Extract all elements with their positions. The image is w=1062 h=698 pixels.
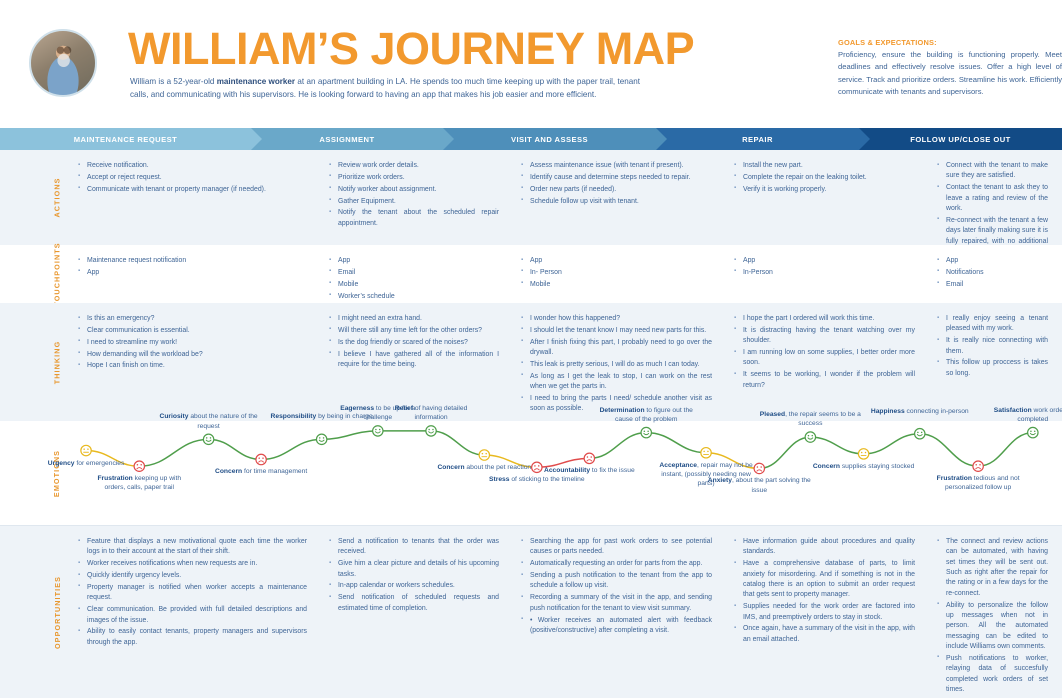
goals-title: GOALS & EXPECTATIONS: xyxy=(838,38,1062,47)
emotion-curve-chart: Urgency for emergenciesFrustration keepi… xyxy=(70,421,1062,526)
row-label-opportunities: OPPORTUNITIES xyxy=(44,526,70,698)
list-item: Accept or reject request. xyxy=(78,173,307,183)
list-item: Clear communication. Be provided with fu… xyxy=(78,605,307,626)
list-item: Automatically requesting an order for pa… xyxy=(521,559,712,569)
list-item: Once again, have a summary of the visit … xyxy=(734,624,915,645)
bullet-list: Maintenance request notificationApp xyxy=(78,256,307,278)
emotion-curve-segment xyxy=(431,431,484,455)
list-item: App xyxy=(937,256,1048,266)
list-item: Communicate with tenant or property mana… xyxy=(78,185,307,195)
list-item: Hope I can finish on time. xyxy=(78,361,307,371)
list-item: Is the dog friendly or scared of the noi… xyxy=(329,338,499,348)
list-item: Connect with the tenant to make sure the… xyxy=(937,161,1048,182)
row-actions: ACTIONSReceive notification.Accept or re… xyxy=(0,150,1062,245)
row-thinking: THINKINGIs this an emergency?Clear commu… xyxy=(0,303,1062,421)
list-item: Receive notification. xyxy=(78,161,307,171)
bullet-list: I might need an extra hand.Will there st… xyxy=(329,314,499,370)
list-item: Recording a summary of the visit in the … xyxy=(521,593,712,614)
emotion-label-16: Happiness connecting in-person xyxy=(868,407,972,416)
list-item: I hope the part I ordered will work this… xyxy=(734,314,915,324)
list-item: As long as I get the leak to stop, I can… xyxy=(521,372,712,393)
bullet-list: Searching the app for past work orders t… xyxy=(521,537,712,636)
cell-touchpoints-3: AppIn- PersonMobile xyxy=(513,245,726,303)
emotion-curve-segment xyxy=(261,439,322,459)
list-item: Send a notification to tenants that the … xyxy=(329,537,499,558)
cell-opportunities-2: Send a notification to tenants that the … xyxy=(321,526,513,698)
bullet-list: AppIn-Person xyxy=(734,256,915,278)
emotion-detail: about the pet reaction xyxy=(465,464,532,471)
emotion-detail: supplies staying stocked xyxy=(840,463,914,470)
list-item: I wonder how this happened? xyxy=(521,314,712,324)
emotion-node-happy-face-icon[interactable] xyxy=(373,426,383,436)
row-label-actions: ACTIONS xyxy=(44,150,70,245)
row-touchpoints: TOUCHPOINTSMaintenance request notificat… xyxy=(0,245,1062,303)
page-title: WILLIAM’S JOURNEY MAP xyxy=(128,26,694,71)
emotion-name: Happiness xyxy=(871,408,905,415)
list-item: Identify cause and determine steps neede… xyxy=(521,173,712,183)
row-label-touchpoints: TOUCHPOINTS xyxy=(44,245,70,303)
list-item: Have a comprehensive database of parts, … xyxy=(734,559,915,600)
list-item: It is really nice connecting with them. xyxy=(937,336,1048,357)
emotion-name: Concern xyxy=(813,463,840,470)
emotion-curve-segment xyxy=(589,433,646,459)
emotion-node-happy-face-icon[interactable] xyxy=(805,432,815,442)
emotion-name: Urgency xyxy=(48,460,75,467)
bullet-list: Review work order details.Prioritize wor… xyxy=(329,161,499,229)
list-item: App xyxy=(734,256,915,266)
section-divider xyxy=(0,525,1062,526)
bullet-list: Feature that displays a new motivational… xyxy=(78,537,307,648)
phase-label: REPAIR xyxy=(742,135,773,144)
phase-label: MAINTENANCE REQUEST xyxy=(74,135,177,144)
emotion-label-8: Concern about the pet reaction xyxy=(432,463,536,472)
row-emotions: EMOTIONSUrgency for emergenciesFrustrati… xyxy=(0,421,1062,526)
emotion-curve-segment xyxy=(920,434,978,466)
phase-header-5[interactable]: FOLLOW UP/CLOSE OUT xyxy=(859,128,1062,150)
bullet-list: Receive notification.Accept or reject re… xyxy=(78,161,307,195)
cell-touchpoints-2: AppEmailMobileWorker’s schedule xyxy=(321,245,513,303)
emotion-name: Accountability xyxy=(544,467,590,474)
emotion-node-neutral-face-icon[interactable] xyxy=(701,448,711,458)
list-item: Supplies needed for the work order are f… xyxy=(734,602,915,623)
phase-header-2[interactable]: ASSIGNMENT xyxy=(251,128,443,150)
list-item: Give him a clear picture and details of … xyxy=(329,559,499,580)
list-item: In- Person xyxy=(521,268,712,278)
bullet-list: The connect and review actions can be au… xyxy=(937,537,1048,695)
row-label-text: EMOTIONS xyxy=(53,450,62,497)
list-item: Notify the tenant about the scheduled re… xyxy=(329,208,499,229)
emotion-node-sad-face-icon[interactable] xyxy=(584,453,594,463)
emotion-node-neutral-face-icon[interactable] xyxy=(858,449,868,459)
cell-opportunities-4: Have information guide about procedures … xyxy=(726,526,929,698)
emotion-node-neutral-face-icon[interactable] xyxy=(479,450,489,460)
persona-role: maintenance worker xyxy=(217,77,295,86)
emotion-label-17: Frustration tedious and not personalized… xyxy=(926,474,1030,493)
list-item: App xyxy=(521,256,712,266)
list-item: Quickly identify urgency levels. xyxy=(78,571,307,581)
emotion-label-7: Relief of having detailed information xyxy=(379,404,483,423)
phase-header-3[interactable]: VISIT AND ASSESS xyxy=(443,128,656,150)
persona-text-pre: William is a 52-year-old xyxy=(130,77,217,86)
emotion-label-9: Stress of sticking to the timeline xyxy=(485,475,589,484)
bullet-list: I hope the part I ordered will work this… xyxy=(734,314,915,391)
emotion-node-happy-face-icon[interactable] xyxy=(1028,427,1038,437)
emotion-detail: , about the part solving the issue xyxy=(732,477,811,493)
emotion-name: Eagerness xyxy=(340,405,374,412)
goals-body: Proficiency, ensure the building is func… xyxy=(838,49,1062,98)
cell-opportunities-3: Searching the app for past work orders t… xyxy=(513,526,726,698)
emotion-node-happy-face-icon[interactable] xyxy=(915,429,925,439)
row-label-text: ACTIONS xyxy=(53,177,62,217)
list-item: It seems to be working, I wonder if the … xyxy=(734,370,915,391)
list-item: Mobile xyxy=(329,280,499,290)
emotion-detail: of having detailed information xyxy=(413,405,467,421)
list-item: Ability to easily contact tenants, prope… xyxy=(78,627,307,648)
emotion-node-happy-face-icon[interactable] xyxy=(641,427,651,437)
emotion-curve-segment xyxy=(209,439,262,459)
list-item: Notify worker about assignment. xyxy=(329,185,499,195)
phase-label: VISIT AND ASSESS xyxy=(511,135,588,144)
list-item: • Worker receives an automated alert wit… xyxy=(521,616,712,637)
list-item: App xyxy=(78,268,307,278)
emotion-detail: connecting in-person xyxy=(905,408,969,415)
cell-touchpoints-5: AppNotificationsEmail xyxy=(929,245,1062,303)
row-label-text: THINKING xyxy=(53,340,62,384)
emotion-label-13: Anxiety, about the part solving the issu… xyxy=(707,476,811,495)
cell-actions-2: Review work order details.Prioritize wor… xyxy=(321,150,513,245)
william-portrait-avatar xyxy=(29,29,97,97)
emotion-node-happy-face-icon[interactable] xyxy=(316,434,326,444)
emotion-node-happy-face-icon[interactable] xyxy=(203,434,213,444)
journey-map-page: WILLIAM’S JOURNEY MAP William is a 52-ye… xyxy=(0,0,1062,698)
list-item: Contact the tenant to ask they to leave … xyxy=(937,183,1048,214)
phase-header-4[interactable]: REPAIR xyxy=(656,128,859,150)
bullet-list: I wonder how this happened?I should let … xyxy=(521,314,712,415)
emotion-curve-segment xyxy=(810,437,863,454)
emotion-detail: for emergencies xyxy=(75,460,125,467)
emotion-name: Determination xyxy=(600,407,645,414)
emotion-label-14: Pleased, the repair seems to be a succes… xyxy=(758,410,862,429)
emotion-name: Satisfaction xyxy=(994,407,1032,414)
cell-touchpoints-1: Maintenance request notificationApp xyxy=(70,245,321,303)
list-item: App xyxy=(329,256,499,266)
emotion-label-4: Concern for time management xyxy=(209,467,313,476)
bullet-list: AppNotificationsEmail xyxy=(937,256,1048,290)
persona-description: William is a 52-year-old maintenance wor… xyxy=(130,76,640,101)
list-item: This leak is pretty serious, I will do a… xyxy=(521,360,712,370)
emotion-name: Concern xyxy=(437,464,464,471)
list-item: I believe I have gathered all of the inf… xyxy=(329,350,499,371)
list-item: The connect and review actions can be au… xyxy=(937,537,1048,599)
emotion-name: Anxiety xyxy=(708,477,732,484)
emotion-curve-segment xyxy=(759,437,810,468)
emotion-detail: for time management xyxy=(242,468,307,475)
list-item: Notifications xyxy=(937,268,1048,278)
list-item: In-Person xyxy=(734,268,915,278)
row-opportunities: OPPORTUNITIESFeature that displays a new… xyxy=(0,526,1062,698)
emotion-detail: to fix the issue xyxy=(590,467,635,474)
row-label-emotions: EMOTIONS xyxy=(44,421,70,526)
emotion-name: Responsibility xyxy=(271,413,317,420)
emotion-label-11: Determination to figure out the cause of… xyxy=(594,406,698,425)
row-label-text: OPPORTUNITIES xyxy=(53,575,62,648)
cell-thinking-3: I wonder how this happened?I should let … xyxy=(513,303,726,421)
list-item: Prioritize work orders. xyxy=(329,173,499,183)
cell-actions-5: Connect with the tenant to make sure the… xyxy=(929,150,1062,245)
list-item: Is this an emergency? xyxy=(78,314,307,324)
emotion-curve-segment xyxy=(646,433,706,453)
list-item: Order new parts (if needed). xyxy=(521,185,712,195)
emotion-name: Frustration xyxy=(97,475,132,482)
phase-label: ASSIGNMENT xyxy=(319,135,374,144)
emotion-name: Curiosity xyxy=(160,413,189,420)
list-item: Push notifications to worker, relaying d… xyxy=(937,654,1048,695)
emotion-curve-segment xyxy=(322,431,378,439)
bullet-list: AppEmailMobileWorker’s schedule xyxy=(329,256,499,302)
cell-thinking-5: I really enjoy seeing a tenant pleased w… xyxy=(929,303,1062,421)
emotion-curve-segment xyxy=(139,439,208,466)
phase-header-bar: MAINTENANCE REQUESTASSIGNMENTVISIT AND A… xyxy=(0,128,1062,150)
list-item: Searching the app for past work orders t… xyxy=(521,537,712,558)
cell-opportunities-5: The connect and review actions can be au… xyxy=(929,526,1062,698)
list-item: I should let the tenant know I may need … xyxy=(521,326,712,336)
bullet-list: Is this an emergency?Clear communication… xyxy=(78,314,307,372)
list-item: Review work order details. xyxy=(329,161,499,171)
emotion-detail: about the nature of the request xyxy=(188,413,257,429)
emotion-node-sad-face-icon[interactable] xyxy=(256,454,266,464)
list-item: It is distracting having the tenant watc… xyxy=(734,326,915,347)
cell-thinking-1: Is this an emergency?Clear communication… xyxy=(70,303,321,421)
list-item: Send notification of scheduled requests … xyxy=(329,593,499,614)
list-item: Worker receives notifications when new r… xyxy=(78,559,307,569)
list-item: Clear communication is essential. xyxy=(78,326,307,336)
emotion-label-18: Satisfaction work order is completed xyxy=(981,406,1062,425)
list-item: After I finish fixing this part, I proba… xyxy=(521,338,712,359)
list-item: Maintenance request notification xyxy=(78,256,307,266)
cell-thinking-4: I hope the part I ordered will work this… xyxy=(726,303,929,421)
list-item: I am running low on some supplies, I bet… xyxy=(734,348,915,369)
bullet-list: Install the new part.Complete the repair… xyxy=(734,161,915,195)
emotion-curve-segment xyxy=(978,433,1033,467)
bullet-list: I really enjoy seeing a tenant pleased w… xyxy=(937,314,1048,379)
list-item: I really enjoy seeing a tenant pleased w… xyxy=(937,314,1048,335)
emotion-name: Acceptance xyxy=(659,462,697,469)
list-item: Schedule follow up visit with tenant. xyxy=(521,197,712,207)
emotion-detail: of sticking to the timeline xyxy=(509,476,584,483)
emotion-node-happy-face-icon[interactable] xyxy=(426,426,436,436)
emotion-label-10: Accountability to fix the issue xyxy=(537,466,641,475)
emotion-name: Relief xyxy=(395,405,413,412)
list-item: I need to streamline my work! xyxy=(78,338,307,348)
emotion-node-neutral-face-icon[interactable] xyxy=(81,445,91,455)
list-item: Assess maintenance issue (with tenant if… xyxy=(521,161,712,171)
list-item: Have information guide about procedures … xyxy=(734,537,915,558)
cell-actions-3: Assess maintenance issue (with tenant if… xyxy=(513,150,726,245)
phase-label: FOLLOW UP/CLOSE OUT xyxy=(910,135,1011,144)
list-item: Feature that displays a new motivational… xyxy=(78,537,307,558)
emotion-name: Stress xyxy=(489,476,509,483)
list-item: Worker’s schedule xyxy=(329,292,499,302)
list-item: This follow up proccess is takes so long… xyxy=(937,358,1048,379)
list-item: Verify it is working properly. xyxy=(734,185,915,195)
list-item: In-app calendar or workers schedules. xyxy=(329,581,499,591)
emotion-name: Concern xyxy=(215,468,242,475)
list-item: Install the new part. xyxy=(734,161,915,171)
emotion-name: Frustration xyxy=(937,475,972,482)
emotion-node-sad-face-icon[interactable] xyxy=(973,461,983,471)
phase-header-1[interactable]: MAINTENANCE REQUEST xyxy=(0,128,251,150)
bullet-list: Assess maintenance issue (with tenant if… xyxy=(521,161,712,207)
list-item: How demanding will the workload be? xyxy=(78,350,307,360)
list-item: I might need an extra hand. xyxy=(329,314,499,324)
goals-block: GOALS & EXPECTATIONS: Proficiency, ensur… xyxy=(838,38,1062,98)
emotion-label-3: Curiosity about the nature of the reques… xyxy=(157,412,261,431)
emotion-curve-segment xyxy=(864,434,920,454)
bullet-list: Send a notification to tenants that the … xyxy=(329,537,499,614)
cell-opportunities-1: Feature that displays a new motivational… xyxy=(70,526,321,698)
emotion-label-1: Urgency for emergencies xyxy=(34,459,138,468)
list-item: Sending a push notification to the tenan… xyxy=(521,571,712,592)
list-item: Property manager is notified when worker… xyxy=(78,583,307,604)
emotion-detail: , the repair seems to be a success xyxy=(785,411,861,427)
list-item: Email xyxy=(329,268,499,278)
emotion-label-2: Frustration keeping up with orders, call… xyxy=(87,474,191,493)
bullet-list: Have information guide about procedures … xyxy=(734,537,915,645)
cell-actions-1: Receive notification.Accept or reject re… xyxy=(70,150,321,245)
bullet-list: Connect with the tenant to make sure the… xyxy=(937,161,1048,257)
row-label-thinking: THINKING xyxy=(44,303,70,421)
cell-touchpoints-4: AppIn-Person xyxy=(726,245,929,303)
list-item: Complete the repair on the leaking toile… xyxy=(734,173,915,183)
list-item: Gather Equipment. xyxy=(329,197,499,207)
list-item: Email xyxy=(937,280,1048,290)
list-item: Mobile xyxy=(521,280,712,290)
header: WILLIAM’S JOURNEY MAP William is a 52-ye… xyxy=(0,0,1062,125)
bullet-list: AppIn- PersonMobile xyxy=(521,256,712,290)
list-item: Ability to personalize the follow up mes… xyxy=(937,601,1048,653)
cell-actions-4: Install the new part.Complete the repair… xyxy=(726,150,929,245)
list-item: Will there still any time left for the o… xyxy=(329,326,499,336)
emotion-label-15: Concern supplies staying stocked xyxy=(812,462,916,471)
emotion-name: Pleased xyxy=(760,411,785,418)
row-label-text: TOUCHPOINTS xyxy=(53,242,62,306)
